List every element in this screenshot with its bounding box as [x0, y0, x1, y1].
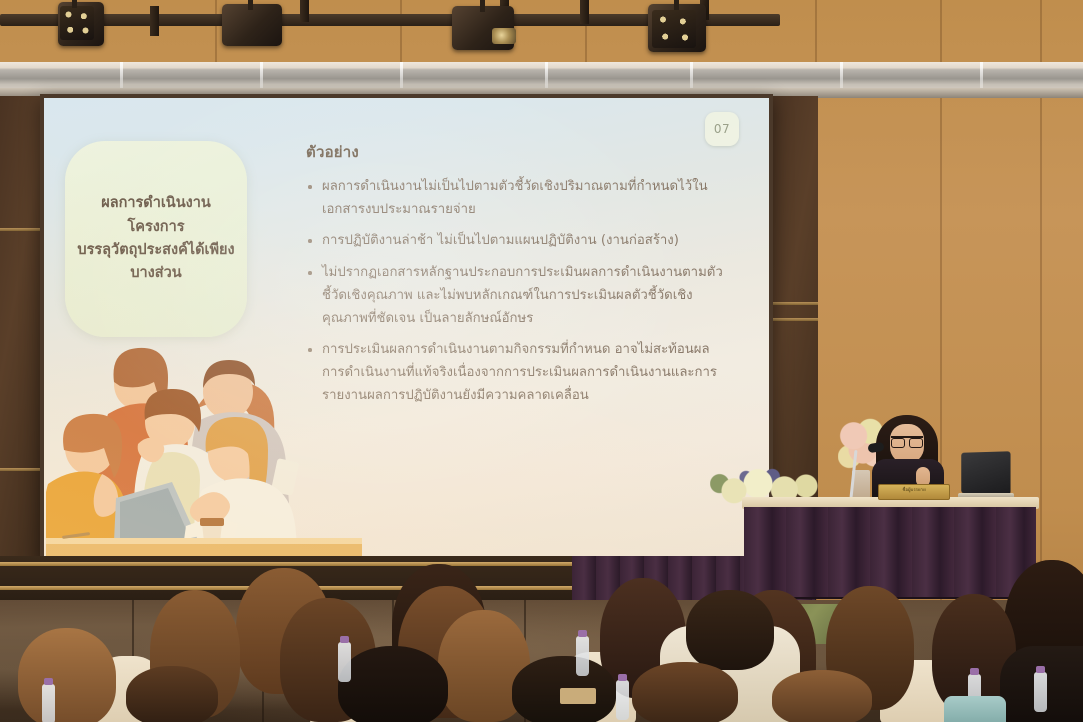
- audience-seating: [0, 560, 1083, 722]
- audience-head: [632, 662, 738, 722]
- conference-photo-scene: 07 ผลการดำเนินงานโครงการ บรรลุวัตถุประสง…: [0, 0, 1083, 722]
- left-dark-wall-panel: [0, 96, 42, 576]
- slide-surface: 07 ผลการดำเนินงานโครงการ บรรลุวัตถุประสง…: [44, 98, 769, 556]
- projection-screen: 07 ผลการดำเนินงานโครงการ บรรลุวัตถุประสง…: [40, 94, 773, 560]
- audience-head: [126, 666, 218, 722]
- stage-light-icon: [222, 4, 282, 46]
- water-bottle: [576, 636, 589, 676]
- stage-light-icon: [58, 2, 104, 46]
- glasses-icon: [891, 436, 923, 444]
- water-bottle: [1034, 672, 1047, 712]
- phone-device: [560, 688, 596, 704]
- water-bottle: [616, 680, 629, 720]
- slide-bullet-item: ผลการดำเนินงานไม่เป็นไปตามตัวชี้วัดเชิงป…: [306, 176, 726, 221]
- water-bottle: [42, 684, 55, 722]
- slide-bullet-list: ผลการดำเนินงานไม่เป็นไปตามตัวชี้วัดเชิงป…: [306, 176, 726, 407]
- stage-light-icon: [452, 6, 514, 50]
- page-number-text: 07: [714, 122, 730, 136]
- audience-head: [772, 670, 872, 722]
- water-bottle: [338, 642, 351, 682]
- audience-head: [18, 628, 116, 722]
- audience-head: [686, 590, 774, 670]
- slide-bullet-item: การประเมินผลการดำเนินงานตามกิจกรรมที่กำห…: [306, 339, 726, 407]
- slide-title-text: ผลการดำเนินงานโครงการ บรรลุวัตถุประสงค์ไ…: [65, 192, 247, 286]
- nameplate-text: ชื่อผู้บรรยาย: [879, 485, 949, 494]
- presenter-laptop: [958, 452, 1012, 502]
- team-illustration: [46, 326, 362, 556]
- slide-bullet-item: ไม่ปรากฏเอกสารหลักฐานประกอบการประเมินผลก…: [306, 262, 726, 330]
- audience-head: [338, 646, 448, 722]
- stage-light-icon: [648, 4, 706, 52]
- presenter-nameplate: ชื่อผู้บรรยาย: [878, 484, 950, 500]
- audience-bag: [944, 696, 1006, 722]
- slide-title-card: ผลการดำเนินงานโครงการ บรรลุวัตถุประสงค์ไ…: [65, 141, 247, 337]
- slide-content-column: ตัวอย่าง ผลการดำเนินงานไม่เป็นไปตามตัวชี…: [306, 140, 726, 416]
- slide-heading: ตัวอย่าง: [306, 140, 726, 164]
- slide-bullet-item: การปฏิบัติงานล่าช้า ไม่เป็นไปตามแผนปฏิบั…: [306, 230, 726, 253]
